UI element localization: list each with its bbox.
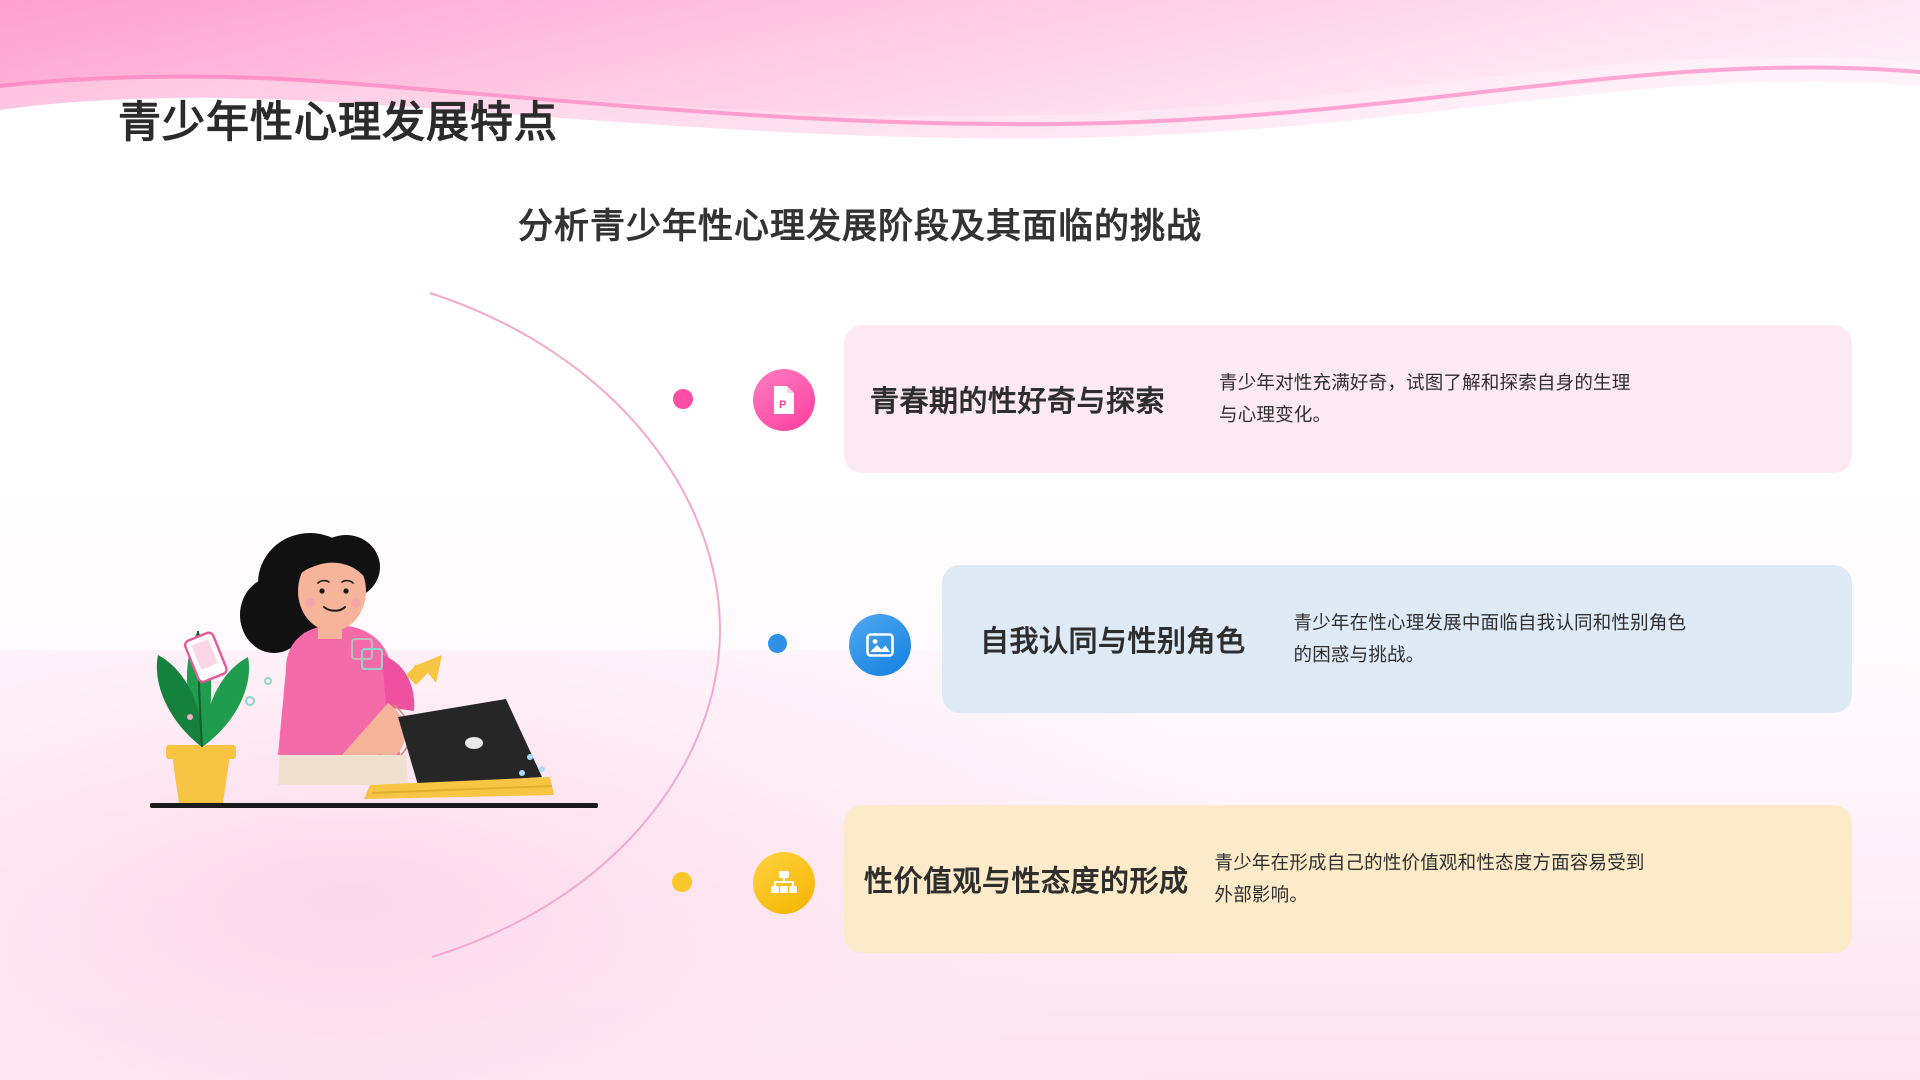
person-laptop-illustration: [150, 455, 610, 815]
timeline-dot-1: [673, 389, 693, 409]
svg-text:P: P: [779, 399, 786, 411]
page-subtitle: 分析青少年性心理发展阶段及其面临的挑战: [518, 198, 1202, 249]
card-desc-3: 青少年在形成自己的性价值观和性态度方面容易受到外部影响。: [1215, 847, 1661, 912]
slide-canvas: 青少年性心理发展特点 分析青少年性心理发展阶段及其面临的挑战: [0, 0, 1920, 1080]
card-title-1: 青春期的性好奇与探索: [870, 378, 1165, 420]
org-chart-icon[interactable]: [753, 852, 815, 914]
image-picture-icon[interactable]: [849, 614, 911, 676]
card-title-3: 性价值观与性态度的形成: [864, 858, 1189, 900]
content-card-1[interactable]: 青春期的性好奇与探索 青少年对性充满好奇，试图了解和探索自身的生理与心理变化。: [844, 325, 1852, 473]
content-card-3[interactable]: 性价值观与性态度的形成 青少年在形成自己的性价值观和性态度方面容易受到外部影响。: [844, 805, 1852, 953]
timeline-dot-3: [672, 872, 692, 892]
card-desc-1: 青少年对性充满好奇，试图了解和探索自身的生理与心理变化。: [1219, 367, 1639, 432]
content-card-2[interactable]: 自我认同与性别角色 青少年在性心理发展中面临自我认同和性别角色的困惑与挑战。: [942, 565, 1852, 713]
page-title: 青少年性心理发展特点: [118, 88, 558, 150]
presentation-file-icon[interactable]: P: [753, 369, 815, 431]
card-title-2: 自我认同与性别角色: [980, 618, 1246, 660]
card-desc-2: 青少年在性心理发展中面临自我认同和性别角色的困惑与挑战。: [1294, 607, 1692, 672]
timeline-dot-2: [768, 634, 787, 653]
